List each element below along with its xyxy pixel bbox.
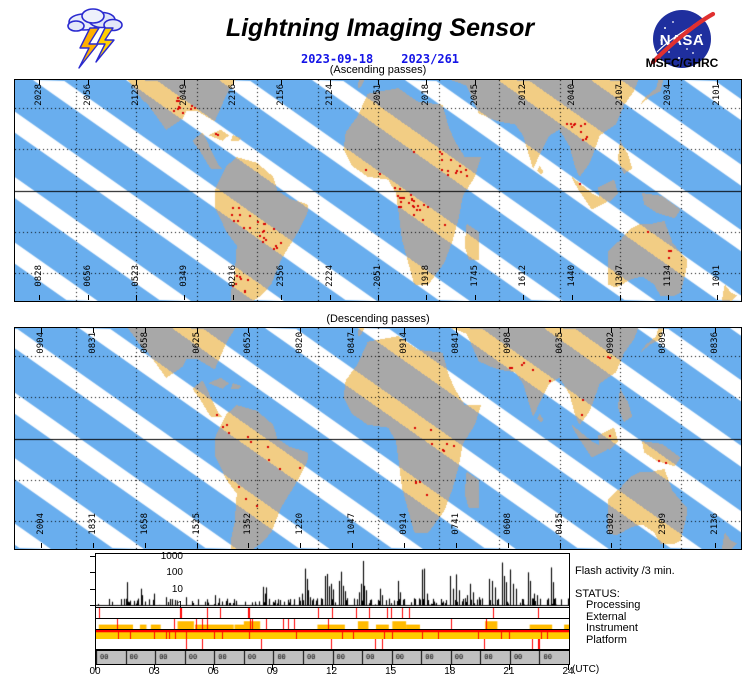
ascending-passes-map[interactable]: 2028205621232049221621562124205120182045… (14, 79, 742, 302)
map-tick-mark (560, 543, 561, 548)
map-tick-mark (668, 80, 669, 85)
map-time-tick-label: 2051 (373, 265, 383, 287)
map-time-tick-label: 2216 (228, 84, 238, 106)
map-tick-mark (572, 80, 573, 85)
map-tick-mark (523, 295, 524, 300)
map-tick-mark (717, 295, 718, 300)
map-time-tick-label: 1047 (347, 513, 357, 535)
map-tick-mark (620, 80, 621, 85)
map-tick-mark (620, 295, 621, 300)
map-time-tick-label: 2356 (276, 265, 286, 287)
map-time-tick-label: 0914 (399, 332, 409, 354)
map-tick-mark (233, 295, 234, 300)
map-tick-mark (378, 80, 379, 85)
page-header: Lightning Imaging Sensor 2023-09-182023/… (0, 0, 756, 78)
bottom-panel: 1101001000 000306091215182124 (UTC) Flas… (0, 551, 756, 680)
map-time-tick-label: 1612 (518, 265, 528, 287)
map-time-tick-label: 2018 (421, 84, 431, 106)
descending-passes-map[interactable]: 0904083106580625065208200847091408410908… (14, 327, 742, 550)
time-axis-canvas (96, 651, 569, 664)
map-time-tick-label: 2309 (658, 513, 668, 535)
map-tick-mark (668, 295, 669, 300)
map-tick-mark (136, 80, 137, 85)
map-time-tick-label: 2056 (83, 84, 93, 106)
flash-plot-y-tick-label: 1000 (143, 551, 183, 562)
map-time-tick-label: 2028 (34, 84, 44, 106)
time-axis-hour-tick (509, 665, 510, 670)
map-tick-mark (136, 295, 137, 300)
map-time-tick-label: 1918 (421, 265, 431, 287)
time-axis-hour-tick (95, 665, 96, 670)
page-title: Lightning Imaging Sensor (150, 14, 610, 43)
map-tick-mark (352, 543, 353, 548)
map-tick-mark (378, 295, 379, 300)
map-time-tick-label: 2101 (712, 84, 722, 106)
map-time-tick-label: 0841 (451, 332, 461, 354)
map-time-tick-label: 0435 (555, 513, 565, 535)
flash-plot-y-tick-label: 100 (143, 567, 183, 578)
map-tick-mark (39, 295, 40, 300)
map-tick-mark (404, 328, 405, 333)
map-time-tick-label: 0216 (228, 265, 238, 287)
map-time-tick-label: 1658 (140, 513, 150, 535)
map-tick-mark (41, 328, 42, 333)
map-time-tick-label: 2049 (179, 84, 189, 106)
map-tick-mark (426, 295, 427, 300)
legend-status-instrument: Instrument (575, 623, 755, 635)
map-tick-mark (715, 543, 716, 548)
map-tick-mark (352, 328, 353, 333)
map-tick-mark (663, 328, 664, 333)
map-time-tick-label: 0904 (36, 332, 46, 354)
map-time-tick-label: 1525 (192, 513, 202, 535)
map-time-tick-label: 0902 (606, 332, 616, 354)
time-axis-hour-tick (213, 665, 214, 670)
map-tick-mark (426, 80, 427, 85)
map-tick-mark (93, 328, 94, 333)
map-tick-mark (475, 80, 476, 85)
nasa-center-caption: MSFC/GHRC (622, 56, 742, 70)
descending-map-canvas (15, 328, 741, 549)
map-time-tick-label: 2224 (325, 265, 335, 287)
map-tick-mark (93, 543, 94, 548)
map-time-tick-label: 2124 (325, 84, 335, 106)
map-time-tick-label: 2156 (276, 84, 286, 106)
status-processing-canvas (96, 608, 569, 618)
map-time-tick-label: 1307 (615, 265, 625, 287)
flash-plot-y-tick-mark (90, 572, 95, 573)
map-time-tick-label: 2045 (470, 84, 480, 106)
map-time-tick-label: 1001 (712, 265, 722, 287)
map-time-tick-label: 0608 (503, 513, 513, 535)
map-tick-mark (88, 295, 89, 300)
flash-plot-y-tick-mark (90, 589, 95, 590)
legend-status-processing: Processing (575, 600, 755, 612)
map-time-tick-label: 2107 (615, 84, 625, 106)
time-axis-strip (95, 650, 570, 665)
thunderstorm-icon (58, 6, 140, 70)
map-time-tick-label: 0658 (140, 332, 150, 354)
map-tick-mark (611, 328, 612, 333)
map-time-tick-label: 1220 (295, 513, 305, 535)
map-tick-mark (248, 328, 249, 333)
map-time-tick-label: 0625 (192, 332, 202, 354)
map-time-tick-label: 0635 (555, 332, 565, 354)
legend-flash-title: Flash activity /3 min. (575, 565, 755, 577)
map-tick-mark (197, 543, 198, 548)
map-time-tick-label: 2051 (373, 84, 383, 106)
map-time-tick-label: 0914 (399, 513, 409, 535)
map-tick-mark (523, 80, 524, 85)
utc-unit-label: (UTC) (572, 664, 599, 675)
map-time-tick-label: 1745 (470, 265, 480, 287)
flash-plot-y-tick-label: 10 (143, 584, 183, 595)
map-tick-mark (456, 543, 457, 548)
map-time-tick-label: 1831 (88, 513, 98, 535)
map-tick-mark (88, 80, 89, 85)
status-row-processing (95, 608, 570, 619)
map-time-tick-label: 0523 (131, 265, 141, 287)
map-time-tick-label: 0302 (606, 513, 616, 535)
map-tick-mark (715, 328, 716, 333)
map-tick-mark (611, 543, 612, 548)
map-time-tick-label: 0836 (710, 332, 720, 354)
map-tick-mark (560, 328, 561, 333)
map-time-tick-label: 2034 (663, 84, 673, 106)
map-time-tick-label: 0820 (295, 332, 305, 354)
map-time-tick-label: 1134 (663, 265, 673, 287)
map-tick-mark (330, 295, 331, 300)
chart-legend: Flash activity /3 min. STATUS: Processin… (575, 565, 755, 646)
map-tick-mark (184, 295, 185, 300)
flash-plot-y-tick-mark (90, 556, 95, 557)
map-tick-mark (300, 543, 301, 548)
map-tick-mark (508, 543, 509, 548)
map-time-tick-label: 0847 (347, 332, 357, 354)
map-tick-mark (456, 328, 457, 333)
map-tick-mark (404, 543, 405, 548)
map-tick-mark (41, 543, 42, 548)
map-tick-mark (508, 328, 509, 333)
status-external-canvas (96, 619, 569, 629)
map-time-tick-label: 0656 (83, 265, 93, 287)
time-axis-hour-tick (154, 665, 155, 670)
time-axis-hour-tick (568, 665, 569, 670)
map-time-tick-label: 2004 (36, 513, 46, 535)
map-time-tick-label: 0809 (658, 332, 668, 354)
map-time-tick-label: 2012 (518, 84, 528, 106)
map-tick-mark (281, 80, 282, 85)
map-tick-mark (145, 543, 146, 548)
time-axis-hour-tick (332, 665, 333, 670)
descending-pass-caption: (Descending passes) (0, 313, 756, 325)
status-row-external (95, 619, 570, 630)
map-time-tick-label: 2040 (567, 84, 577, 106)
lis-daily-summary-page: Lightning Imaging Sensor 2023-09-182023/… (0, 0, 756, 680)
map-tick-mark (281, 295, 282, 300)
map-time-tick-label: 2136 (710, 513, 720, 535)
time-axis-hour-tick (391, 665, 392, 670)
map-tick-mark (233, 80, 234, 85)
map-time-tick-label: 2123 (131, 84, 141, 106)
map-time-tick-label: 0828 (34, 265, 44, 287)
map-time-tick-label: 0349 (179, 265, 189, 287)
map-tick-mark (475, 295, 476, 300)
map-tick-mark (39, 80, 40, 85)
status-row-platform (95, 639, 570, 650)
map-time-tick-label: 0831 (88, 332, 98, 354)
flash-plot-y-tick-mark (90, 605, 95, 606)
map-tick-mark (184, 80, 185, 85)
map-time-tick-label: 0652 (243, 332, 253, 354)
legend-status-platform: Platform (575, 635, 755, 647)
map-tick-mark (330, 80, 331, 85)
map-time-tick-label: 0908 (503, 332, 513, 354)
time-axis-hour-tick (450, 665, 451, 670)
map-tick-mark (145, 328, 146, 333)
map-tick-mark (248, 543, 249, 548)
map-time-tick-label: 1440 (567, 265, 577, 287)
map-time-tick-label: 1352 (243, 513, 253, 535)
time-axis-hour-tick (272, 665, 273, 670)
map-time-tick-label: 0741 (451, 513, 461, 535)
status-platform-canvas (96, 639, 569, 649)
map-tick-mark (197, 328, 198, 333)
map-tick-mark (300, 328, 301, 333)
map-tick-mark (663, 543, 664, 548)
map-tick-mark (572, 295, 573, 300)
map-tick-mark (717, 80, 718, 85)
